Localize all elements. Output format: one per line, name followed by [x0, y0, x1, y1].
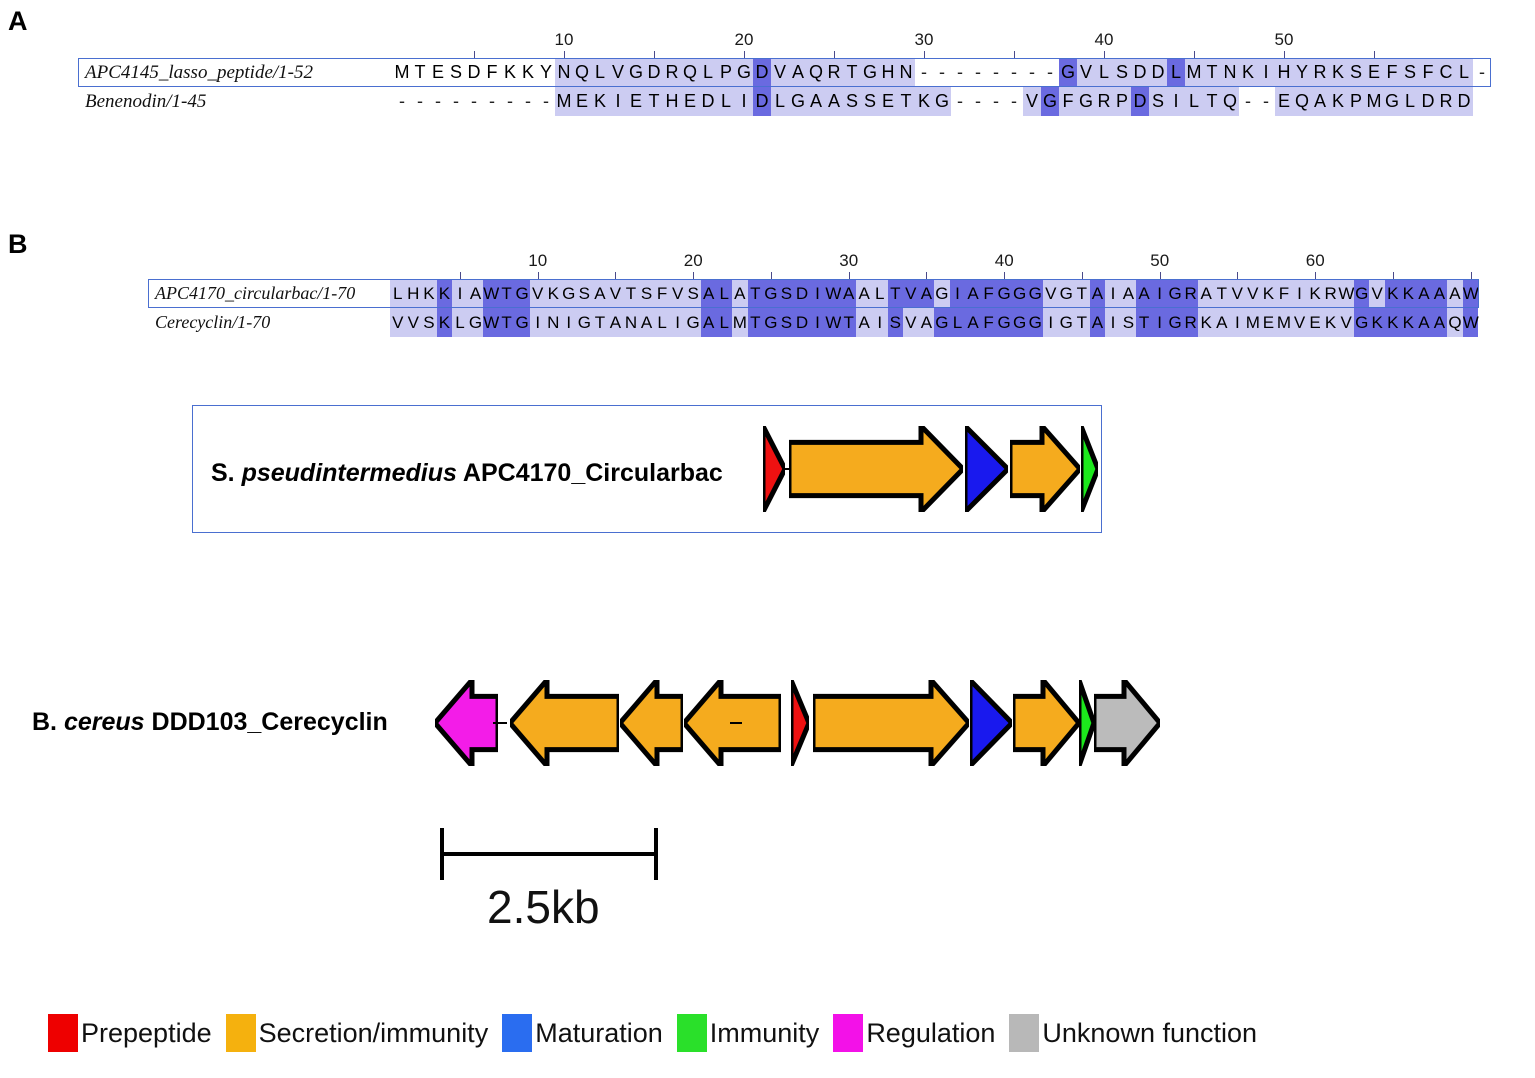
ruler-label: 50 [1275, 30, 1294, 50]
ruler-tick [474, 51, 475, 58]
ruler-tick [1160, 272, 1161, 279]
residue-cell: T [748, 279, 764, 308]
legend-label: Maturation [535, 1018, 663, 1049]
residue-cell: R [1323, 279, 1339, 308]
ruler-tick [1237, 272, 1238, 279]
residue-cell: G [1077, 87, 1095, 116]
residue-cell: G [514, 279, 530, 308]
residue-cell: L [716, 308, 732, 337]
residue-cell: E [1275, 87, 1293, 116]
residue-cell: S [1113, 58, 1131, 87]
alignment-row: Cerecyclin/1-70VVSKLGWTGINIGTANALIGALMTG… [148, 308, 1479, 337]
ruler-label: 50 [1150, 251, 1169, 271]
residue-cell: H [663, 87, 681, 116]
residue-cell: A [608, 308, 624, 337]
residue-cell: W [825, 279, 841, 308]
residue-cell: Q [1221, 87, 1239, 116]
residue-cell: K [519, 58, 537, 87]
residue-cell: - [933, 58, 951, 87]
residue-cell: E [1307, 308, 1323, 337]
sequence-name: Benenodin/1-45 [78, 87, 393, 116]
residue-cell: F [981, 279, 997, 308]
residue-cell: T [411, 58, 429, 87]
ruler-tick [1374, 51, 1375, 58]
residue-cell: T [499, 279, 515, 308]
residue-cell: L [1095, 58, 1113, 87]
residue-cell: R [1183, 279, 1199, 308]
maturation-gene[interactable] [970, 680, 1012, 771]
genus-abbrev: B. [32, 708, 64, 736]
ruler-tick [460, 272, 461, 279]
residue-cell: N [555, 58, 573, 87]
residue-cell: - [969, 87, 987, 116]
legend-swatch [226, 1014, 256, 1052]
ruler-tick [744, 51, 745, 58]
ruler-label: 40 [995, 251, 1014, 271]
residue-cell: - [501, 87, 519, 116]
scalebar-label: 2.5kb [487, 880, 600, 934]
residue-cell: K [1329, 87, 1347, 116]
residue-cell: G [933, 87, 951, 116]
ruler-tick [1014, 51, 1015, 58]
residue-cell: - [987, 87, 1005, 116]
residue-cell: A [919, 279, 935, 308]
alignment-row: Benenodin/1-45---------MEKIETHEDLIDLGAAS… [78, 87, 1491, 116]
legend-item: Immunity [677, 1014, 830, 1052]
residue-cell: - [987, 58, 1005, 87]
residue-cell: E [1261, 308, 1277, 337]
residue-cell: L [452, 308, 468, 337]
residue-cell: G [1012, 308, 1028, 337]
residue-cell: M [393, 58, 411, 87]
secretion-gene-1[interactable] [510, 680, 619, 771]
sequence-name: APC4170_circularbac/1-70 [148, 279, 390, 308]
panel-label-b: B [8, 229, 28, 260]
residue-cell: T [1214, 279, 1230, 308]
residue-cell: Q [573, 58, 591, 87]
residue-cell: - [915, 58, 933, 87]
legend-item: Prepeptide [48, 1014, 222, 1052]
residue-cell: - [393, 87, 411, 116]
residue-cell: T [645, 87, 663, 116]
residue-cell: W [1463, 279, 1479, 308]
regulation-gene[interactable] [435, 680, 498, 771]
residue-cell: T [592, 308, 608, 337]
residue-cell: M [732, 308, 748, 337]
residue-cell: L [771, 87, 789, 116]
unknown-gene[interactable] [1094, 680, 1160, 771]
residue-cell: A [856, 308, 872, 337]
residue-cell: A [789, 58, 807, 87]
immunity-gene[interactable] [1081, 426, 1098, 517]
residue-cell: I [950, 279, 966, 308]
legend-label: Immunity [710, 1018, 820, 1049]
residue-cell: Q [681, 58, 699, 87]
residue-cell: V [903, 308, 919, 337]
ruler-label: 10 [555, 30, 574, 50]
sequence-cells: ---------MEKIETHEDLIDLGAASSETKG----VGFGR… [393, 87, 1473, 116]
residue-cell: G [1027, 308, 1043, 337]
residue-cell: M [1185, 58, 1203, 87]
residue-cell: V [1292, 308, 1308, 337]
residue-cell: V [1023, 87, 1041, 116]
alignment-row: APC4170_circularbac/1-70LHKKIAWTGVKGSAVT… [148, 279, 1479, 308]
residue-cell: E [1365, 58, 1383, 87]
immunity-gene[interactable] [1079, 680, 1094, 771]
residue-cell: L [699, 58, 717, 87]
legend-swatch [502, 1014, 532, 1052]
residue-cell: - [429, 87, 447, 116]
residue-cell: L [1185, 87, 1203, 116]
residue-cell: N [897, 58, 915, 87]
residue-cell: - [1041, 58, 1059, 87]
residue-cell: I [530, 308, 546, 337]
residue-cell: T [499, 308, 515, 337]
residue-cell: G [514, 308, 530, 337]
residue-cell: A [856, 279, 872, 308]
residue-cell: P [1113, 87, 1131, 116]
residue-cell: R [663, 58, 681, 87]
residue-cell: S [447, 58, 465, 87]
residue-cell: G [627, 58, 645, 87]
residue-cell: V [1043, 279, 1059, 308]
residue-cell: - [1239, 87, 1257, 116]
residue-cell: E [429, 58, 447, 87]
residue-cell: D [699, 87, 717, 116]
residue-cell: K [437, 308, 453, 337]
residue-cell: W [825, 308, 841, 337]
residue-cell: L [872, 279, 888, 308]
ruler-tick [771, 272, 772, 279]
residue-cell: S [1121, 308, 1137, 337]
residue-cell: I [1167, 87, 1185, 116]
residue-cell: A [468, 279, 484, 308]
residue-cell: A [1416, 308, 1432, 337]
residue-cell: S [1401, 58, 1419, 87]
ruler-tick [924, 51, 925, 58]
ruler-tick [654, 51, 655, 58]
residue-cell: S [1149, 87, 1167, 116]
residue-cell: K [437, 279, 453, 308]
residue-cell: Q [1293, 87, 1311, 116]
residue-cell: P [1347, 87, 1365, 116]
residue-cell: S [685, 279, 701, 308]
residue-cell: W [1463, 308, 1479, 337]
residue-cell: D [1131, 58, 1149, 87]
residue-cell: L [1167, 58, 1185, 87]
residue-cell: K [1239, 58, 1257, 87]
prepeptide-gene[interactable] [763, 426, 785, 517]
residue-cell: A [1447, 279, 1463, 308]
residue-cell: V [1245, 279, 1261, 308]
residue-cell: - [1023, 58, 1041, 87]
residue-cell: A [732, 279, 748, 308]
residue-cell: R [1311, 58, 1329, 87]
legend-swatch [833, 1014, 863, 1052]
residue-cell: I [810, 279, 826, 308]
residue-cell: G [1383, 87, 1401, 116]
gene-cluster-box-1: S. pseudintermedius APC4170_Circularbac [192, 405, 1102, 533]
residue-cell: - [411, 87, 429, 116]
residue-cell: G [468, 308, 484, 337]
residue-cell: K [545, 279, 561, 308]
species-name: cereus [64, 708, 145, 736]
residue-cell: M [1365, 87, 1383, 116]
residue-cell: K [1401, 308, 1417, 337]
ruler-tick [693, 272, 694, 279]
residue-cell: F [654, 279, 670, 308]
sequence-name: APC4145_lasso_peptide/1-52 [78, 58, 393, 87]
gene-connector [730, 722, 742, 724]
alignment-ruler: 1020304050 [78, 26, 1491, 58]
residue-cell: D [794, 279, 810, 308]
residue-cell: D [465, 58, 483, 87]
scalebar-tick-left [440, 828, 444, 880]
residue-cell: K [501, 58, 519, 87]
prepeptide-gene[interactable] [791, 680, 809, 771]
residue-cell: K [1369, 308, 1385, 337]
residue-cell: - [951, 87, 969, 116]
residue-cell: V [903, 279, 919, 308]
legend-label: Unknown function [1042, 1018, 1257, 1049]
residue-cell: T [1074, 279, 1090, 308]
residue-cell: H [879, 58, 897, 87]
ruler-tick [1082, 272, 1083, 279]
residue-cell: A [1198, 279, 1214, 308]
residue-cell: - [951, 58, 969, 87]
residue-cell: K [1198, 308, 1214, 337]
ruler-label: 10 [528, 251, 547, 271]
gene-connector [783, 468, 791, 470]
residue-cell: - [1005, 58, 1023, 87]
sequence-cells: LHKKIAWTGVKGSAVTSFVSALATGSDIWAALTVAGIAFG… [390, 279, 1478, 308]
residue-cell: A [1090, 279, 1106, 308]
ruler-label: 20 [684, 251, 703, 271]
genus-abbrev: S. [211, 459, 242, 487]
residue-cell: E [573, 87, 591, 116]
scalebar-horizontal [440, 852, 658, 856]
residue-cell: H [1275, 58, 1293, 87]
secretion-gene-4[interactable] [813, 680, 969, 771]
residue-cell: I [735, 87, 753, 116]
residue-cell: A [1121, 279, 1137, 308]
residue-cell: - [519, 87, 537, 116]
residue-cell: V [390, 308, 406, 337]
residue-cell: G [1041, 87, 1059, 116]
residue-cell: L [950, 308, 966, 337]
ruler-label: 20 [735, 30, 754, 50]
residue-cell: K [1385, 308, 1401, 337]
residue-cell: - [483, 87, 501, 116]
secretion-gene-2[interactable] [620, 680, 683, 771]
residue-cell: V [670, 279, 686, 308]
residue-cell: G [996, 308, 1012, 337]
residue-cell: T [841, 308, 857, 337]
residue-cell: M [555, 87, 573, 116]
ruler-tick [1471, 272, 1472, 279]
sequence-cells: VVSKLGWTGINIGTANALIGALMTGSDIWTAISVAGLAFG… [390, 308, 1478, 337]
residue-cell: H [406, 279, 422, 308]
legend-item: Maturation [502, 1014, 673, 1052]
residue-cell: K [1401, 279, 1417, 308]
maturation-gene[interactable] [965, 426, 1008, 517]
residue-cell: A [1214, 308, 1230, 337]
residue-cell: G [934, 279, 950, 308]
residue-cell: A [825, 87, 843, 116]
residue-cell: R [1095, 87, 1113, 116]
residue-cell: A [701, 308, 717, 337]
ruler-label: 40 [1095, 30, 1114, 50]
residue-cell: G [1167, 308, 1183, 337]
residue-cell: W [483, 279, 499, 308]
residue-cell: I [452, 279, 468, 308]
residue-cell: T [1203, 58, 1221, 87]
residue-cell: L [1455, 58, 1473, 87]
residue-cell: F [1276, 279, 1292, 308]
residue-cell: A [1311, 87, 1329, 116]
residue-cell: A [919, 308, 935, 337]
residue-cell: Y [1293, 58, 1311, 87]
residue-cell: V [608, 279, 624, 308]
residue-cell: I [1152, 308, 1168, 337]
residue-cell: V [1369, 279, 1385, 308]
secretion-gene-1[interactable] [789, 426, 963, 517]
strain-cluster-name: APC4170_Circularbac [457, 459, 723, 487]
ruler-tick [926, 272, 927, 279]
cluster-2-arrows [435, 680, 1160, 766]
ruler-label: 30 [839, 251, 858, 271]
residue-cell: S [1347, 58, 1365, 87]
ruler-tick [615, 272, 616, 279]
residue-cell: V [771, 58, 789, 87]
residue-cell: N [623, 308, 639, 337]
ruler-tick [1284, 51, 1285, 58]
scalebar-tick-right [654, 828, 658, 880]
legend-label: Regulation [866, 1018, 995, 1049]
secretion-gene-5[interactable] [1013, 680, 1079, 771]
residue-cell: A [639, 308, 655, 337]
residue-cell: V [530, 279, 546, 308]
residue-cell: K [1307, 279, 1323, 308]
alignment-panel-a: 1020304050APC4145_lasso_peptide/1-52MTES… [78, 26, 1491, 116]
residue-cell: K [915, 87, 933, 116]
alignment-row: APC4145_lasso_peptide/1-52MTESDFKKYNQLVG… [78, 58, 1491, 87]
residue-cell: E [627, 87, 645, 116]
residue-cell: S [421, 308, 437, 337]
ruler-tick [834, 51, 835, 58]
residue-cell: G [1012, 279, 1028, 308]
gene-connector [493, 722, 507, 724]
residue-cell: A [592, 279, 608, 308]
residue-cell: G [1027, 279, 1043, 308]
residue-cell: G [1354, 308, 1370, 337]
residue-cell: S [577, 279, 593, 308]
residue-cell: D [1149, 58, 1167, 87]
residue-cell: N [1221, 58, 1239, 87]
residue-cell: G [1059, 279, 1075, 308]
residue-cell: M [1276, 308, 1292, 337]
legend-label: Prepeptide [81, 1018, 212, 1049]
residue-cell: A [1136, 279, 1152, 308]
gene-function-legend: PrepeptideSecretion/immunityMaturationIm… [48, 1014, 1271, 1052]
residue-cell: G [763, 308, 779, 337]
residue-cell: K [1329, 58, 1347, 87]
residue-cell: K [591, 87, 609, 116]
residue-cell: T [1136, 308, 1152, 337]
residue-cell: L [591, 58, 609, 87]
cluster-1-arrows [763, 426, 1098, 512]
residue-cell: G [789, 87, 807, 116]
residue-cell: A [1432, 308, 1448, 337]
residue-cell: S [639, 279, 655, 308]
residue-cell: V [1077, 58, 1095, 87]
residue-cell: P [717, 58, 735, 87]
residue-cell: F [981, 308, 997, 337]
residue-cell: A [965, 279, 981, 308]
alignment-ruler: 102030405060 [148, 247, 1479, 279]
residue-cell: G [1354, 279, 1370, 308]
legend-swatch [677, 1014, 707, 1052]
residue-cell: T [897, 87, 915, 116]
residue-cell: A [701, 279, 717, 308]
residue-cell: D [645, 58, 663, 87]
residue-cell: - [447, 87, 465, 116]
species-name: pseudintermedius [242, 459, 457, 487]
residue-cell: Y [537, 58, 555, 87]
secretion-gene-3[interactable] [684, 680, 781, 771]
residue-cell: I [810, 308, 826, 337]
residue-cell: S [888, 308, 904, 337]
residue-cell: A [965, 308, 981, 337]
residue-cell: G [861, 58, 879, 87]
residue-cell: D [1131, 87, 1149, 116]
residue-cell: G [1059, 58, 1077, 87]
residue-cell: - [1257, 87, 1275, 116]
cluster-1-label: S. pseudintermedius APC4170_Circularbac [211, 459, 723, 488]
strain-cluster-name: DDD103_Cerecyclin [145, 708, 388, 736]
residue-cell: T [843, 58, 861, 87]
residue-cell: E [879, 87, 897, 116]
residue-cell: I [1105, 308, 1121, 337]
residue-cell: L [1401, 87, 1419, 116]
residue-cell: G [996, 279, 1012, 308]
residue-cell: A [841, 279, 857, 308]
residue-cell: F [1383, 58, 1401, 87]
residue-cell: A [1416, 279, 1432, 308]
residue-cell: V [609, 58, 627, 87]
residue-cell: R [1437, 87, 1455, 116]
ruler-tick [1315, 272, 1316, 279]
residue-cell: M [1245, 308, 1261, 337]
residue-cell: V [406, 308, 422, 337]
residue-cell: C [1437, 58, 1455, 87]
residue-cell: S [861, 87, 879, 116]
residue-cell: S [779, 308, 795, 337]
residue-cell: E [681, 87, 699, 116]
legend-item: Secretion/immunity [226, 1014, 499, 1052]
residue-cell: N [545, 308, 561, 337]
residue-cell: D [1419, 87, 1437, 116]
secretion-gene-2[interactable] [1010, 426, 1080, 517]
residue-cell: K [1323, 308, 1339, 337]
legend-item: Regulation [833, 1014, 1005, 1052]
residue-cell: G [577, 308, 593, 337]
residue-cell: V [1230, 279, 1246, 308]
residue-cell: T [748, 308, 764, 337]
ruler-tick [849, 272, 850, 279]
residue-cell: I [609, 87, 627, 116]
residue-cell: S [779, 279, 795, 308]
